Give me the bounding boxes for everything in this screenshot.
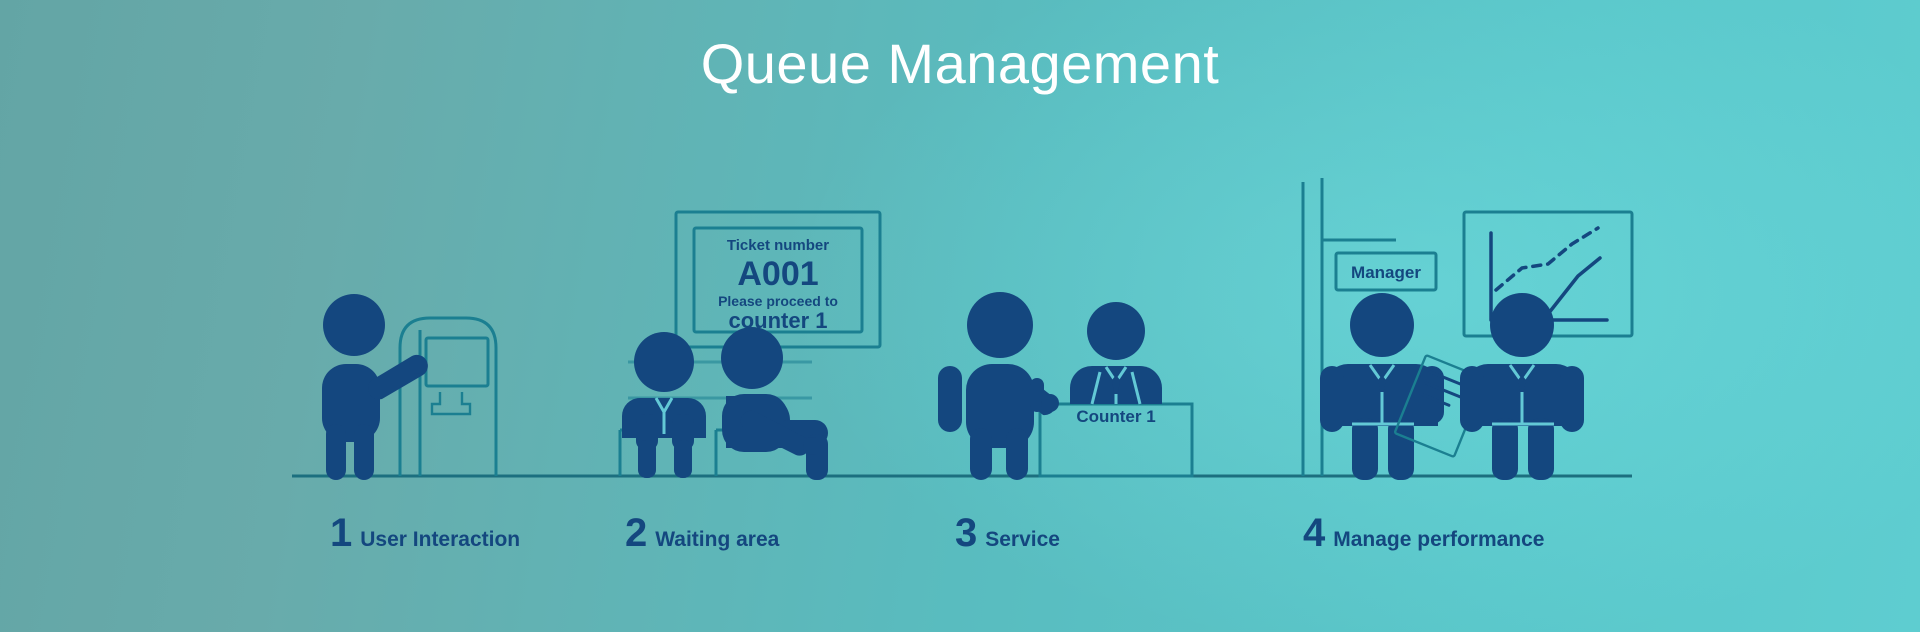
step-number-4: 4 (1303, 513, 1325, 553)
manager-sign-label: Manager (1351, 263, 1421, 282)
step-4-illustration: Manager (1303, 178, 1632, 480)
counter-label: Counter 1 (1076, 407, 1155, 426)
step-number-2: 2 (625, 513, 647, 553)
kiosk-ticket-slot (432, 392, 470, 414)
ticket-board-code: A001 (737, 255, 818, 293)
step-number-1: 1 (330, 513, 352, 553)
ticket-board-line2: Please proceed to (718, 293, 838, 309)
kiosk-screen (426, 338, 488, 386)
step-label-4: Manage performance (1333, 529, 1544, 550)
step-caption-1: 1 User Interaction (330, 513, 520, 553)
kiosk-icon (400, 318, 496, 476)
step-1-illustration (304, 294, 496, 480)
step-caption-3: 3 Service (955, 513, 1060, 553)
step-3-illustration: Counter 1 (938, 292, 1192, 480)
waiting-person-side (721, 327, 828, 480)
step-label-2: Waiting area (655, 529, 779, 550)
customer-figure-kiosk (304, 294, 428, 480)
step-caption-4: 4 Manage performance (1303, 513, 1544, 553)
chart-series-target (1496, 228, 1598, 290)
step-caption-2: 2 Waiting area (625, 513, 779, 553)
ticket-board-line1: Ticket number (727, 237, 829, 254)
step-2-illustration: Ticket number A001 Please proceed to cou… (620, 212, 880, 480)
step-label-1: User Interaction (360, 529, 520, 550)
clerk-figure (1070, 302, 1162, 404)
queue-management-infographic: Queue Management .navy { fill: #14477f; … (0, 0, 1920, 632)
service-counter-desk: Counter 1 (1040, 404, 1192, 476)
manager-sign: Manager (1336, 253, 1436, 290)
step-number-3: 3 (955, 513, 977, 553)
waiting-person-front (622, 332, 706, 478)
step-label-3: Service (985, 529, 1060, 550)
